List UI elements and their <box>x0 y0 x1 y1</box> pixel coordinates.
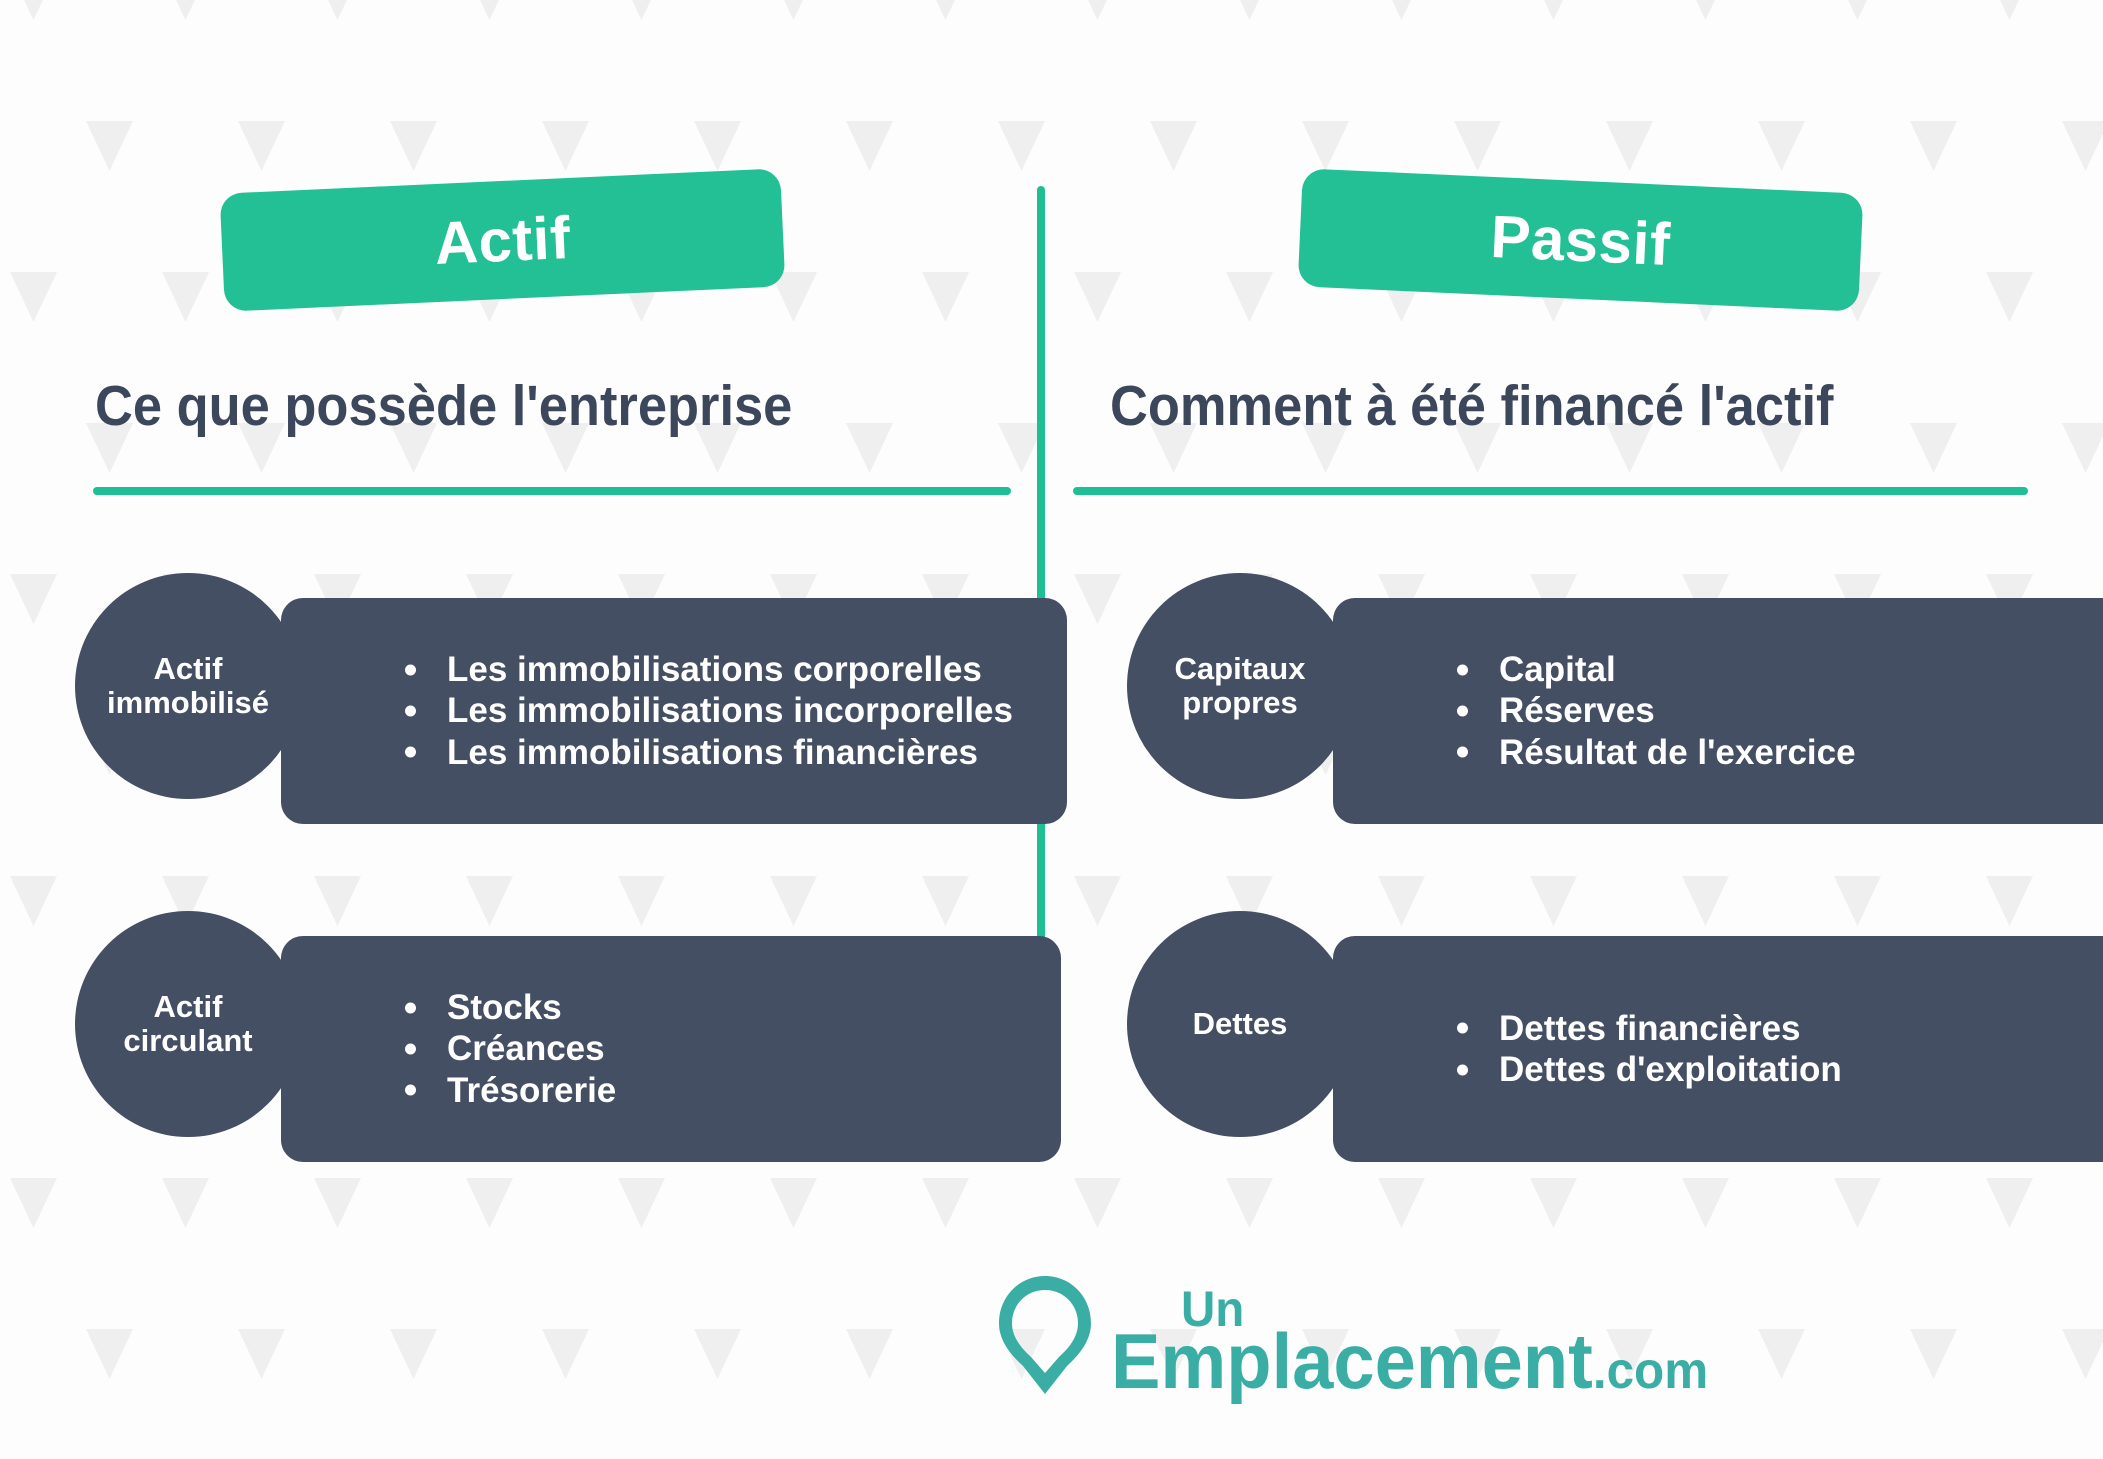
circle-capitaux-propres: Capitaux propres <box>1127 573 1353 799</box>
list-item-label: Dettes financières <box>1499 1009 1801 1048</box>
list-item: Dettes financières <box>1443 1008 1842 1049</box>
banner-actif-label: Actif <box>433 202 572 277</box>
card-actif-immobilise: Les immobilisations corporelles Les immo… <box>281 598 1067 824</box>
circle-label-line: Capitaux <box>1175 651 1306 686</box>
brand-logo: Un Emplacement.com <box>0 1273 2103 1397</box>
list-item-label: Les immobilisations financières <box>447 733 978 772</box>
list-item-label: Stocks <box>447 988 562 1027</box>
logo-word-emplacement: Emplacement <box>1111 1317 1593 1405</box>
bullet-dot-icon <box>405 705 416 716</box>
list-item: Créances <box>391 1028 616 1069</box>
card-actif-circulant: Stocks Créances Trésorerie <box>281 936 1061 1162</box>
bullet-dot-icon <box>1457 1064 1468 1075</box>
list-item-label: Trésorerie <box>447 1071 616 1110</box>
logo-word-main: Emplacement.com <box>1111 1322 1708 1400</box>
list-item-label: Dettes d'exploitation <box>1499 1050 1842 1089</box>
infographic-frame: Actif Passif Ce que possède l'entreprise… <box>0 0 2103 1459</box>
card-capitaux-propres: Capital Réserves Résultat de l'exercice <box>1333 598 2103 824</box>
bullet-dot-icon <box>405 1085 416 1096</box>
logo-tld: .com <box>1592 1342 1707 1400</box>
list-item-label: Les immobilisations incorporelles <box>447 691 1013 730</box>
list-item-label: Les immobilisations corporelles <box>447 650 982 689</box>
circle-label-line: propres <box>1182 685 1297 720</box>
circle-actif-circulant: Actif circulant <box>75 911 301 1137</box>
circle-label-line: Actif <box>154 989 223 1024</box>
circle-label-line: circulant <box>123 1023 252 1058</box>
list-item-label: Capital <box>1499 650 1616 689</box>
list-item: Les immobilisations financières <box>391 732 1013 773</box>
circle-dettes: Dettes <box>1127 911 1353 1137</box>
heading-left-column: Ce que possède l'entreprise <box>95 373 792 439</box>
list-item-label: Résultat de l'exercice <box>1499 733 1856 772</box>
list-item: Dettes d'exploitation <box>1443 1049 1842 1090</box>
circle-label-line: immobilisé <box>107 685 269 720</box>
bullet-list-actif-immobilise: Les immobilisations corporelles Les immo… <box>391 649 1013 773</box>
bullet-dot-icon <box>405 664 416 675</box>
circle-label-line: Dettes <box>1193 1006 1288 1041</box>
bullet-dot-icon <box>405 747 416 758</box>
location-pin-icon <box>993 1273 1097 1397</box>
bullet-list-dettes: Dettes financières Dettes d'exploitation <box>1443 1008 1842 1091</box>
heading-rule-left <box>93 487 1011 495</box>
bullet-dot-icon <box>1457 1023 1468 1034</box>
list-item: Stocks <box>391 987 616 1028</box>
bullet-dot-icon <box>1457 705 1468 716</box>
bullet-list-actif-circulant: Stocks Créances Trésorerie <box>391 987 616 1111</box>
list-item: Résultat de l'exercice <box>1443 732 1856 773</box>
bullet-dot-icon <box>405 1002 416 1013</box>
list-item: Réserves <box>1443 690 1856 731</box>
banner-passif: Passif <box>1298 168 1864 311</box>
heading-rule-right <box>1073 487 2028 495</box>
banner-passif-label: Passif <box>1489 201 1672 278</box>
card-dettes: Dettes financières Dettes d'exploitation <box>1333 936 2103 1162</box>
bullet-list-capitaux-propres: Capital Réserves Résultat de l'exercice <box>1443 649 1856 773</box>
circle-actif-immobilise: Actif immobilisé <box>75 573 301 799</box>
heading-right-column: Comment à été financé l'actif <box>1110 373 1834 439</box>
list-item: Les immobilisations incorporelles <box>391 690 1013 731</box>
list-item-label: Créances <box>447 1029 605 1068</box>
bullet-dot-icon <box>1457 664 1468 675</box>
list-item-label: Réserves <box>1499 691 1655 730</box>
bullet-dot-icon <box>405 1043 416 1054</box>
circle-label-line: Actif <box>154 651 223 686</box>
list-item: Les immobilisations corporelles <box>391 649 1013 690</box>
banner-actif: Actif <box>220 168 786 311</box>
list-item: Capital <box>1443 649 1856 690</box>
list-item: Trésorerie <box>391 1070 616 1111</box>
bullet-dot-icon <box>1457 747 1468 758</box>
